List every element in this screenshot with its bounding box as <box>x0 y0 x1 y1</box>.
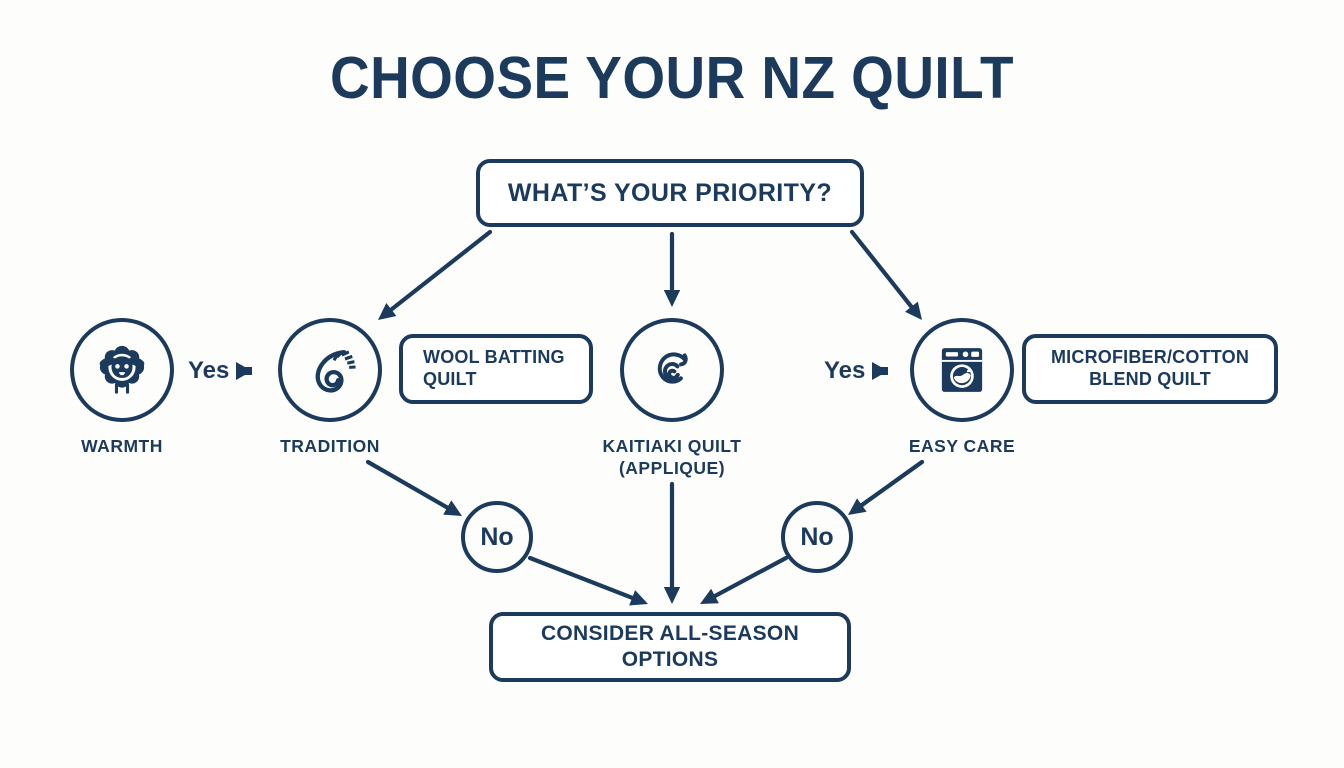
edge-label-yes-easycare: Yes <box>824 357 888 385</box>
node-kaitiaki-label: KAITIAKI QUILT(APPLIQUE) <box>542 435 802 480</box>
no-text-right: No <box>800 523 833 552</box>
yes-text-right: Yes <box>824 357 865 385</box>
arrow-right-icon <box>872 362 888 380</box>
edge-node-no-tradition[interactable]: No <box>461 501 533 573</box>
yes-text-left: Yes <box>188 357 229 385</box>
outcome-box-all-season[interactable]: CONSIDER ALL-SEASON OPTIONS <box>489 612 851 682</box>
node-tradition[interactable] <box>278 318 382 422</box>
arrow-line-tradition-to-no <box>368 462 449 509</box>
sheep-icon <box>93 341 151 399</box>
wool-line-2: QUILT <box>423 369 477 389</box>
node-easy-care-label: EASY CARE <box>832 435 1092 457</box>
outcome-box-microfiber-blend[interactable]: MICROFIBER/COTTONBLEND QUILT <box>1022 334 1278 404</box>
arrow-head-priority-to-kaitiaki <box>664 290 680 307</box>
arrow-head-tradition-to-no <box>443 500 462 516</box>
kaitiaki-line-2: (APPLIQUE) <box>619 458 725 478</box>
page-title: CHOOSE YOUR NZ QUILT <box>47 44 1297 112</box>
arrow-line-easycare-to-no <box>860 462 922 506</box>
flowchart-canvas: CHOOSE YOUR NZ QUILT WHAT’S YOUR PRIORIT… <box>0 0 1344 768</box>
outcome-box-microfiber-blend-label: MICROFIBER/COTTONBLEND QUILT <box>1026 347 1274 391</box>
decision-box-priority[interactable]: WHAT’S YOUR PRIORITY? <box>476 159 864 227</box>
node-warmth[interactable] <box>70 318 174 422</box>
arrow-head-priority-to-tradition <box>378 303 396 320</box>
node-kaitiaki[interactable] <box>620 318 724 422</box>
arrow-head-easycare-to-no <box>848 498 867 515</box>
micro-line-1: MICROFIBER/COTTON <box>1051 347 1249 367</box>
washing-machine-icon <box>934 342 990 398</box>
arrow-line-no-right-to-allseason <box>713 558 786 597</box>
micro-line-2: BLEND QUILT <box>1089 369 1211 389</box>
node-easy-care[interactable] <box>910 318 1014 422</box>
kaitiaki-line-1: KAITIAKI QUILT <box>603 436 742 456</box>
arrow-line-no-left-to-allseason <box>530 558 634 599</box>
edge-label-yes-warmth: Yes <box>188 357 252 385</box>
silver-fern-koru-icon <box>300 340 360 400</box>
arrow-head-no-right-to-allseason <box>700 589 719 604</box>
no-text-left: No <box>480 523 513 552</box>
arrow-right-icon <box>236 362 252 380</box>
arrow-line-priority-to-tradition <box>390 232 490 311</box>
arrow-head-no-left-to-allseason <box>629 590 648 605</box>
outcome-box-wool-batting-label: WOOL BATTINGQUILT <box>423 347 589 391</box>
edge-node-no-easycare[interactable]: No <box>781 501 853 573</box>
outcome-box-wool-batting[interactable]: WOOL BATTINGQUILT <box>399 334 593 404</box>
arrow-head-kaitiaki-to-allseason <box>664 587 680 604</box>
arrow-head-priority-to-easycare <box>905 302 922 320</box>
arrow-line-priority-to-easycare <box>852 232 913 308</box>
decision-box-priority-label: WHAT’S YOUR PRIORITY? <box>480 178 860 209</box>
outcome-box-all-season-label: CONSIDER ALL-SEASON OPTIONS <box>493 621 847 672</box>
node-tradition-label: TRADITION <box>200 435 460 457</box>
wool-line-1: WOOL BATTING <box>423 347 565 367</box>
koru-spiral-icon <box>643 341 701 399</box>
